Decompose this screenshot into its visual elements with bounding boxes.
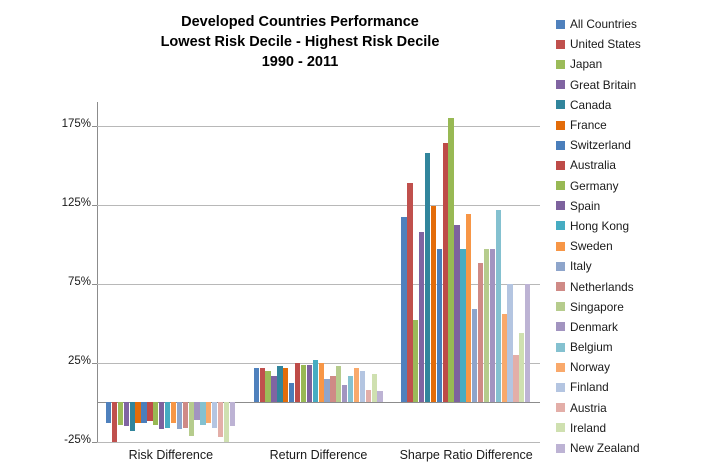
bar (212, 402, 217, 427)
bar (147, 402, 152, 421)
bar (277, 366, 282, 402)
bar (437, 249, 442, 402)
bar (377, 391, 382, 402)
legend-item[interactable]: Netherlands (556, 276, 708, 296)
bar (260, 368, 265, 403)
bar (419, 232, 424, 403)
y-axis-tick-label: 175% (45, 118, 91, 130)
bar (431, 206, 436, 402)
legend-item[interactable]: Sweden (556, 236, 708, 256)
bar (372, 374, 377, 402)
legend-item-label: Hong Kong (570, 219, 629, 233)
legend-item[interactable]: Ireland (556, 418, 708, 438)
y-axis-tick-mark (92, 442, 97, 443)
legend-swatch-icon (556, 423, 565, 432)
legend-item[interactable]: Austria (556, 398, 708, 418)
legend-item[interactable]: Spain (556, 196, 708, 216)
chart-title: Developed Countries Performance Lowest R… (60, 12, 540, 72)
legend-swatch-icon (556, 343, 565, 352)
chart-title-line-2: Lowest Risk Decile - Highest Risk Decile (60, 32, 540, 52)
legend-item-label: Switzerland (570, 138, 631, 152)
legend-item[interactable]: Belgium (556, 337, 708, 357)
bar (490, 249, 495, 402)
legend-swatch-icon (556, 242, 565, 251)
bar (478, 263, 483, 402)
bar (254, 368, 259, 403)
legend-swatch-icon (556, 403, 565, 412)
bar (159, 402, 164, 429)
legend-swatch-icon (556, 161, 565, 170)
gridline (97, 126, 540, 127)
bar (295, 363, 300, 403)
bar (407, 183, 412, 403)
bar (525, 284, 530, 403)
y-axis-tick-labels: 175%125%75%25%-25% (45, 102, 91, 442)
bar (194, 402, 199, 419)
bar (360, 371, 365, 403)
legend-item-label: Singapore (570, 300, 624, 314)
legend-item[interactable]: Japan (556, 54, 708, 74)
bar (141, 402, 146, 423)
legend-swatch-icon (556, 80, 565, 89)
bar (324, 379, 329, 403)
bar (502, 314, 507, 403)
bar (519, 333, 524, 403)
bar (466, 214, 471, 402)
bar (106, 402, 111, 423)
bar (189, 402, 194, 435)
gridline (97, 442, 540, 443)
legend-item[interactable]: Australia (556, 155, 708, 175)
y-axis-tick-label: 25% (45, 355, 91, 367)
legend-swatch-icon (556, 20, 565, 29)
bar (301, 365, 306, 403)
legend-item[interactable]: United States (556, 34, 708, 54)
legend-item-label: Germany (570, 179, 619, 193)
legend-item-label: United States (570, 37, 641, 51)
y-axis-line (97, 102, 98, 442)
bar (224, 402, 229, 442)
legend-item-label: Ireland (570, 421, 606, 435)
legend-item[interactable]: Great Britain (556, 75, 708, 95)
bar (307, 365, 312, 403)
chart-container: Developed Countries Performance Lowest R… (0, 0, 710, 476)
plot-area (97, 102, 540, 442)
bar (342, 385, 347, 402)
legend-item[interactable]: Finland (556, 377, 708, 397)
bar (366, 390, 371, 403)
gridline (97, 284, 540, 285)
legend-swatch-icon (556, 444, 565, 453)
bar (413, 320, 418, 402)
legend-swatch-icon (556, 302, 565, 311)
legend-item[interactable]: Canada (556, 95, 708, 115)
legend-swatch-icon (556, 121, 565, 130)
y-axis-tick-mark (92, 205, 97, 206)
y-axis-tick-label: 75% (45, 276, 91, 288)
legend-item-label: Austria (570, 401, 607, 415)
legend-item[interactable]: Singapore (556, 297, 708, 317)
legend-swatch-icon (556, 221, 565, 230)
legend-item-label: Netherlands (570, 280, 634, 294)
legend-swatch-icon (556, 282, 565, 291)
legend-item-label: Italy (570, 259, 592, 273)
bar (443, 143, 448, 402)
legend-item-label: Denmark (570, 320, 618, 334)
legend-item-label: New Zealand (570, 441, 640, 455)
legend-item[interactable]: Switzerland (556, 135, 708, 155)
bar (496, 210, 501, 403)
bar (425, 153, 430, 403)
bar (112, 402, 117, 442)
bar (124, 402, 129, 426)
legend-item-label: Australia (570, 158, 616, 172)
bar (206, 402, 211, 423)
legend-item-label: Belgium (570, 340, 613, 354)
legend-item-label: Great Britain (570, 78, 636, 92)
bar (460, 249, 465, 402)
x-axis-category-label: Sharpe Ratio Difference (392, 448, 540, 462)
bar (135, 402, 140, 423)
bar (153, 402, 158, 424)
legend-swatch-icon (556, 322, 565, 331)
legend-item-label: Spain (570, 199, 600, 213)
legend-swatch-icon (556, 363, 565, 372)
y-axis-tick-mark (92, 126, 97, 127)
bar (401, 217, 406, 402)
legend-item[interactable]: New Zealand (556, 438, 708, 458)
bar (265, 371, 270, 403)
chart-title-line-3: 1990 - 2011 (60, 52, 540, 72)
chart-title-line-1: Developed Countries Performance (60, 12, 540, 32)
bar (177, 402, 182, 429)
y-axis-tick-mark (92, 284, 97, 285)
bar (354, 368, 359, 403)
legend-swatch-icon (556, 262, 565, 271)
legend-item-label: Finland (570, 380, 609, 394)
y-axis-tick-label: 125% (45, 197, 91, 209)
legend-item-label: Sweden (570, 239, 613, 253)
legend-swatch-icon (556, 201, 565, 210)
bar (218, 402, 223, 437)
bar (448, 118, 453, 403)
bar (230, 402, 235, 426)
legend-item-label: Norway (570, 360, 610, 374)
legend-item[interactable]: Hong Kong (556, 216, 708, 236)
bar (484, 249, 489, 402)
legend-swatch-icon (556, 141, 565, 150)
bar (200, 402, 205, 424)
bar (289, 383, 294, 402)
legend-item[interactable]: Denmark (556, 317, 708, 337)
x-axis-category-label: Return Difference (245, 448, 393, 462)
bar (319, 363, 324, 403)
legend-item-label: France (570, 118, 607, 132)
legend-swatch-icon (556, 100, 565, 109)
legend-swatch-icon (556, 40, 565, 49)
legend-item[interactable]: All Countries (556, 14, 708, 34)
bar (336, 366, 341, 402)
legend-item-label: Japan (570, 57, 602, 71)
legend-swatch-icon (556, 383, 565, 392)
bar (472, 309, 477, 402)
x-axis-category-label: Risk Difference (97, 448, 245, 462)
y-axis-tick-label: -25% (45, 434, 91, 446)
bar (507, 284, 512, 403)
gridline (97, 205, 540, 206)
bar (283, 368, 288, 403)
legend-item[interactable]: Italy (556, 256, 708, 276)
bar (454, 225, 459, 402)
bar (348, 376, 353, 403)
bar (513, 355, 518, 402)
bar (313, 360, 318, 403)
bar (183, 402, 188, 427)
legend-item[interactable]: Germany (556, 176, 708, 196)
legend-item[interactable]: Norway (556, 357, 708, 377)
bar (118, 402, 123, 424)
chart-legend: All CountriesUnited StatesJapanGreat Bri… (556, 14, 708, 458)
legend-swatch-icon (556, 181, 565, 190)
bar (271, 376, 276, 403)
bar (130, 402, 135, 430)
y-axis-tick-mark (92, 363, 97, 364)
legend-swatch-icon (556, 60, 565, 69)
bar (330, 376, 335, 403)
legend-item-label: Canada (570, 98, 611, 112)
bar (165, 402, 170, 427)
legend-item[interactable]: France (556, 115, 708, 135)
bar (171, 402, 176, 423)
legend-item-label: All Countries (570, 17, 637, 31)
